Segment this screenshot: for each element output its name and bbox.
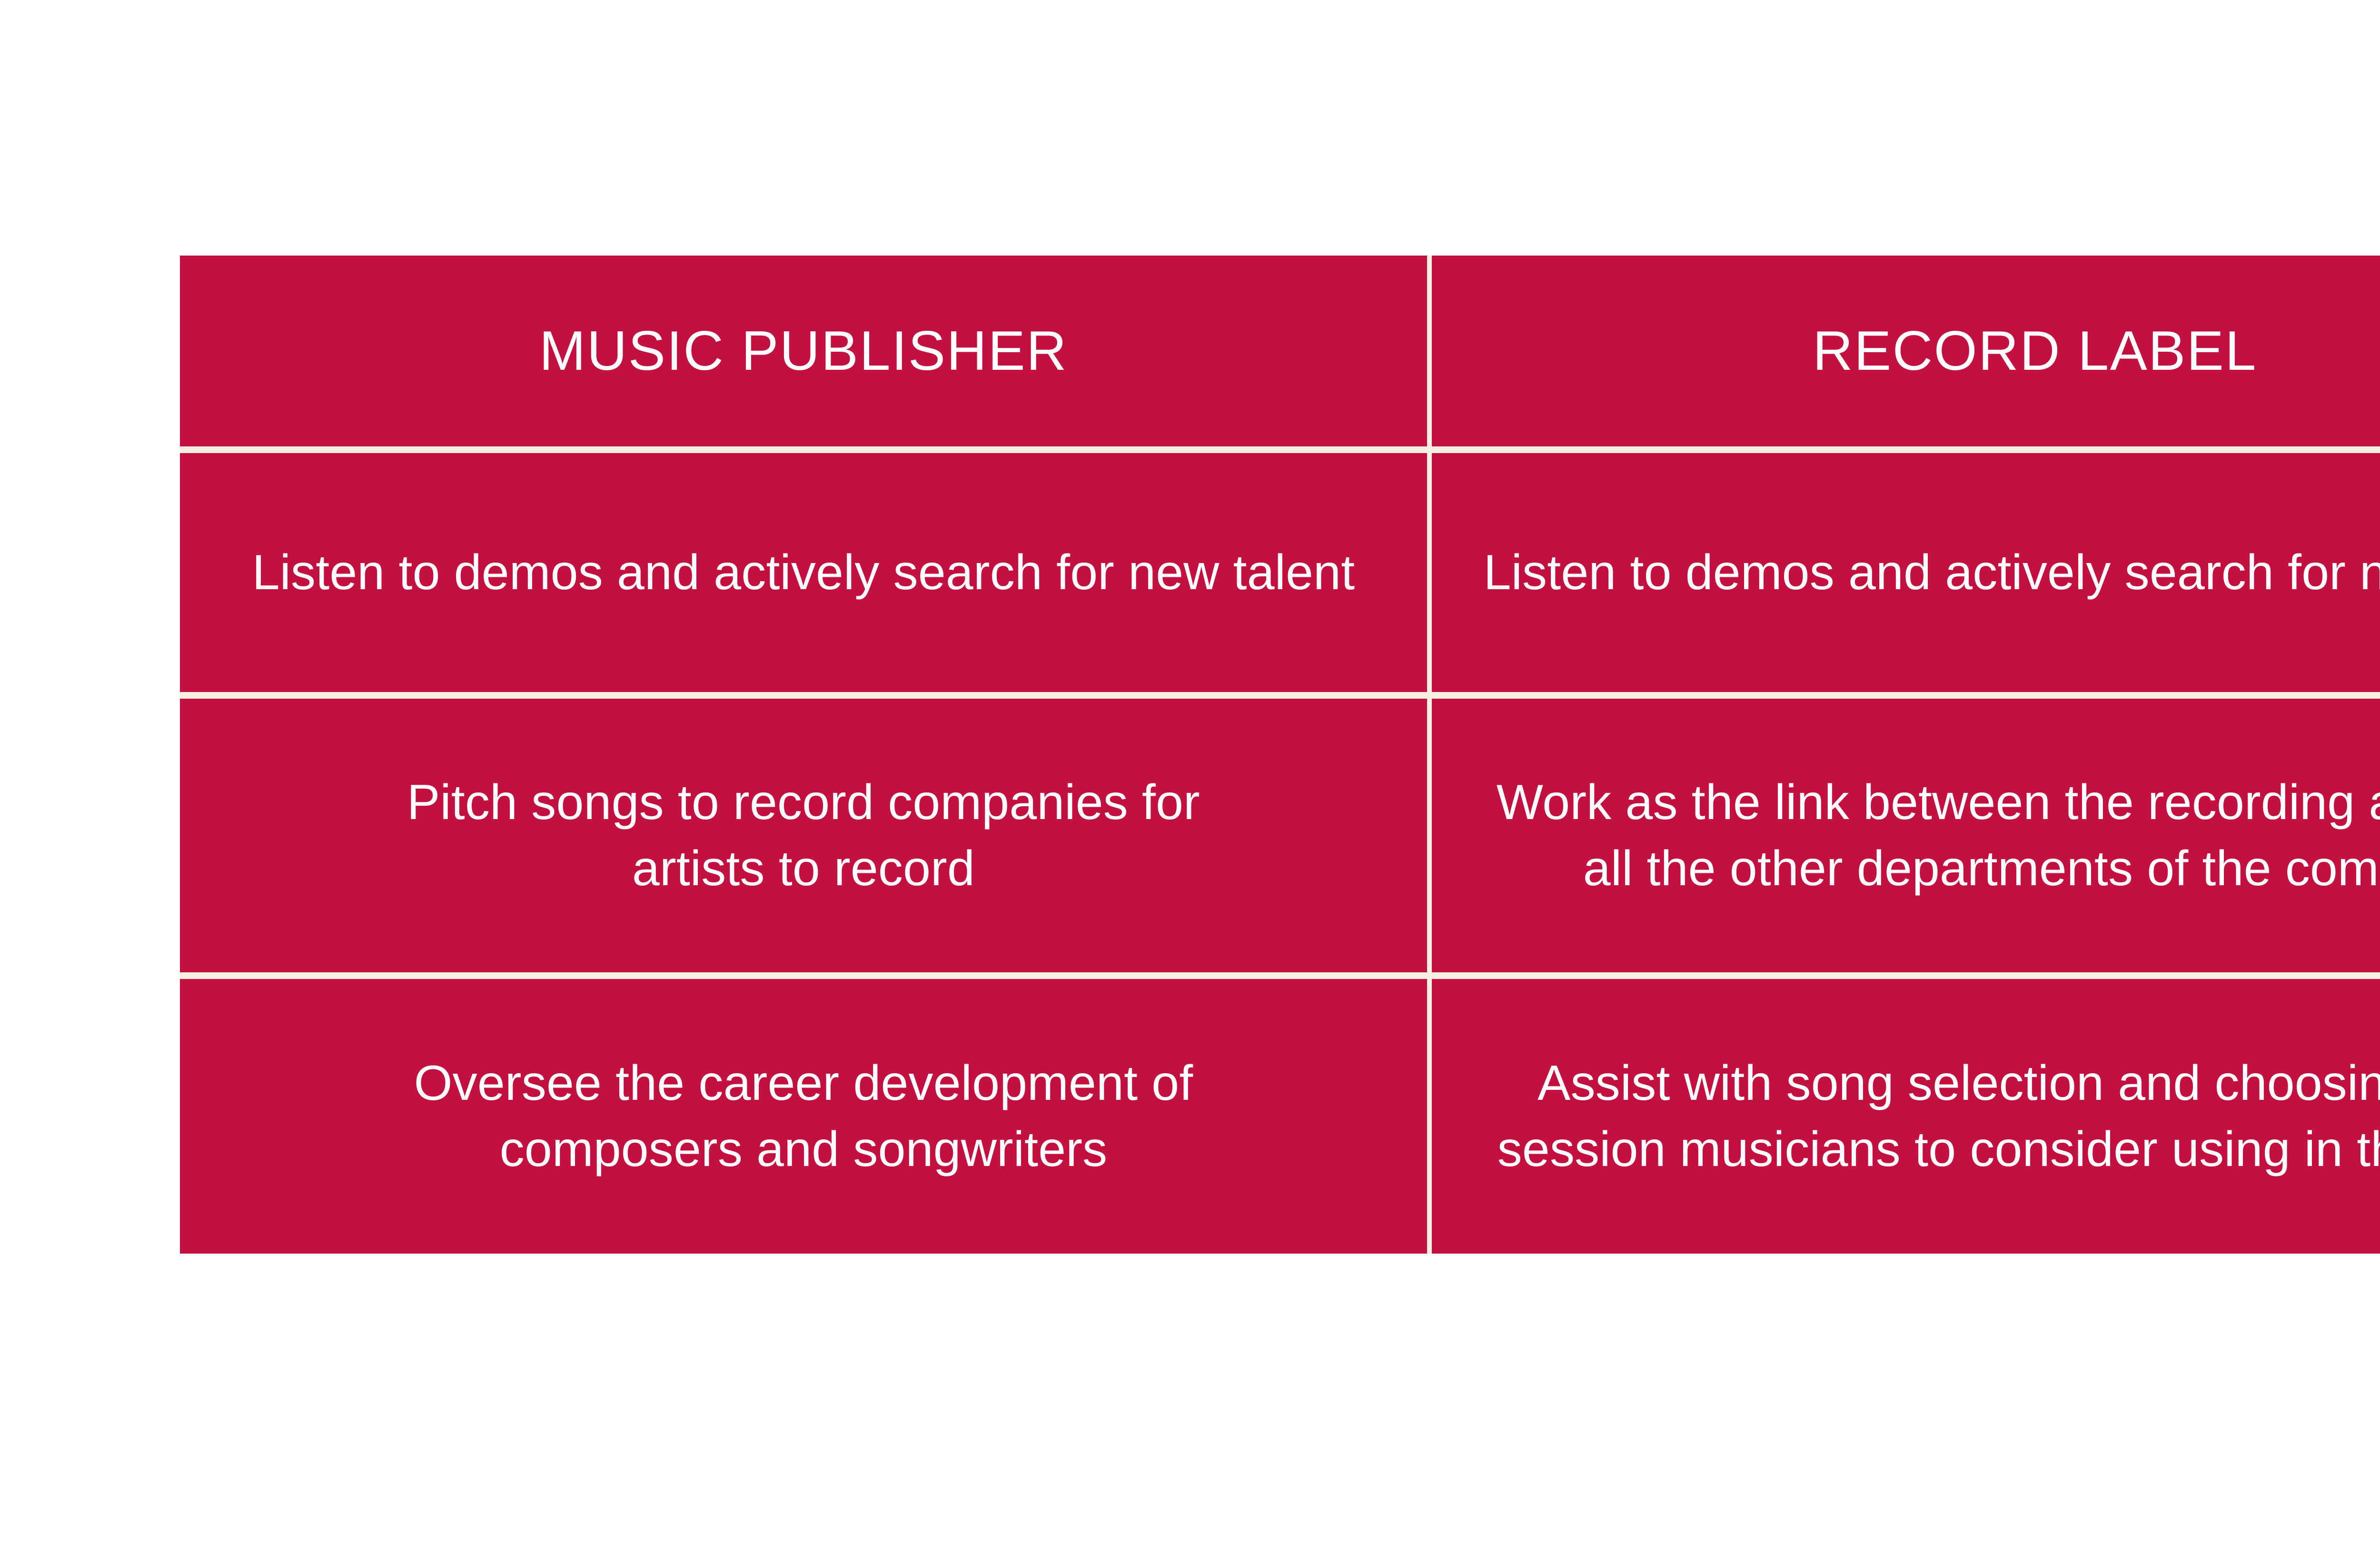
text-line: session musicians to consider using in t… [1497,1117,2380,1182]
text-line: composers and songwriters [414,1117,1193,1182]
table-cell-label-3: Assist with song selection and choosing … [1432,979,2380,1254]
table-header-cell-record-label: RECORD LABEL [1432,256,2380,446]
table-header-label-record-label: RECORD LABEL [1813,319,2257,383]
table-cell-publisher-3: Oversee the career development of compos… [180,979,1427,1254]
table-header-row: MUSIC PUBLISHER RECORD LABEL [180,256,2380,446]
table-cell-text: Assist with song selection and choosing … [1478,1050,2380,1182]
text-line: Oversee the career development of [414,1050,1193,1116]
comparison-table: MUSIC PUBLISHER RECORD LABEL Listen to d… [180,256,2380,1254]
text-line: Work as the link between the recording a… [1497,770,2380,835]
table-header-label-music-publisher: MUSIC PUBLISHER [539,319,1068,383]
table-cell-text: Oversee the career development of compos… [395,1050,1212,1182]
table-cell-text: Listen to demos and actively search for … [1465,540,2380,605]
table-cell-text: Work as the link between the recording a… [1478,770,2380,901]
table-cell-publisher-1: Listen to demos and actively search for … [180,453,1427,692]
text-line: artists to record [407,836,1200,901]
table-row: Listen to demos and actively search for … [180,453,2380,692]
table-cell-label-1: Listen to demos and actively search for … [1432,453,2380,692]
text-line: Listen to demos and actively search for … [252,540,1355,605]
table-cell-text: Pitch songs to record companies for arti… [388,770,1219,901]
column-divider [1427,256,1432,446]
column-divider [1427,699,1432,972]
slide-canvas: MUSIC PUBLISHER RECORD LABEL Listen to d… [0,0,2380,1542]
column-divider [1427,453,1432,692]
row-divider-2 [180,972,2380,979]
table-row: Oversee the career development of compos… [180,979,2380,1254]
text-line: Assist with song selection and choosing … [1497,1050,2380,1116]
text-line: all the other departments of the company [1497,836,2380,901]
row-divider-1 [180,692,2380,699]
table-cell-label-2: Work as the link between the recording a… [1432,699,2380,972]
table-row: Pitch songs to record companies for arti… [180,699,2380,972]
table-cell-text: Listen to demos and actively search for … [233,540,1374,605]
row-divider-header [180,446,2380,453]
text-line: Pitch songs to record companies for [407,770,1200,835]
text-line: Listen to demos and actively search for … [1484,540,2380,605]
table-header-cell-music-publisher: MUSIC PUBLISHER [180,256,1427,446]
column-divider [1427,979,1432,1254]
table-cell-publisher-2: Pitch songs to record companies for arti… [180,699,1427,972]
